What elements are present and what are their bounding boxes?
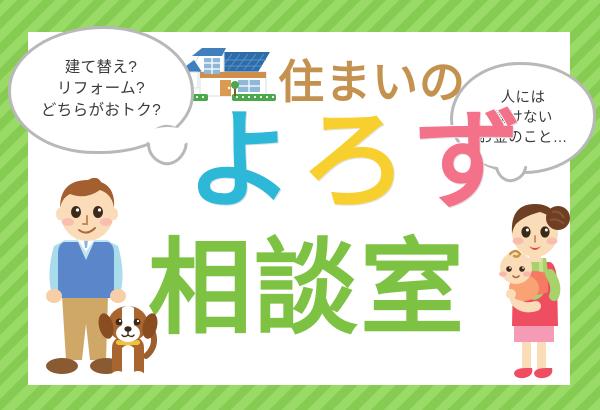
beagle-dog-illustration: [98, 302, 160, 386]
bubble-left-line-2: リフォーム?: [57, 78, 145, 99]
question-bubble-left: 建て替え? リフォーム? どちらがおトク?: [8, 26, 194, 154]
main-title-char-1: よ: [186, 99, 300, 224]
bubble-left-tail-mask: [145, 127, 191, 147]
bubble-left-line-1: 建て替え?: [65, 57, 138, 78]
banner: 建て替え? リフォーム? どちらがおトク? 人には 聞けない お金のこと… 住ま…: [0, 0, 600, 410]
bubble-left-line-3: どちらがおトク?: [41, 100, 161, 121]
main-title: よろず: [186, 108, 528, 216]
second-title: 相談室: [148, 236, 466, 340]
main-title-char-2: ろ: [300, 99, 414, 224]
woman-holding-baby-illustration: [484, 196, 576, 388]
